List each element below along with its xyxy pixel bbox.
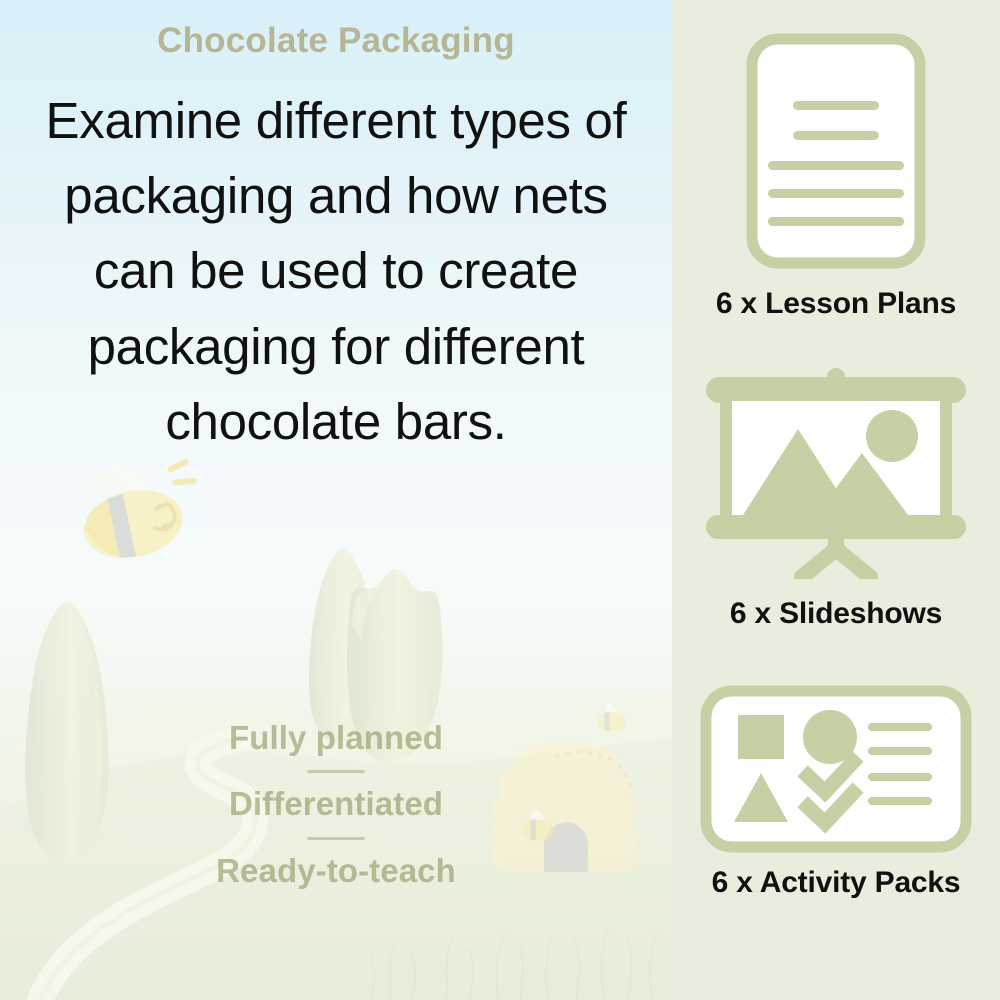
activity-card-icon bbox=[700, 685, 972, 853]
feature-lesson-plans: 6 x Lesson Plans bbox=[672, 33, 1000, 321]
tagline-differentiated: Differentiated bbox=[229, 784, 443, 824]
resource-preview-card: Chocolate Packaging Examine different ty… bbox=[0, 0, 1000, 1000]
left-content: Chocolate Packaging Examine different ty… bbox=[0, 0, 672, 1000]
tagline-ready-to-teach: Ready-to-teach bbox=[216, 851, 456, 891]
page-title: Chocolate Packaging bbox=[157, 22, 515, 61]
projector-icon bbox=[702, 367, 970, 579]
tagline-group: Fully planned Differentiated Ready-to-te… bbox=[0, 718, 672, 891]
document-icon bbox=[746, 33, 926, 269]
feature-label-slideshows: 6 x Slideshows bbox=[730, 597, 942, 631]
tagline-fully-planned: Fully planned bbox=[229, 718, 443, 758]
feature-activity-packs: 6 x Activity Packs bbox=[672, 685, 1000, 900]
features-panel: 6 x Lesson Plans bbox=[672, 0, 1000, 1000]
description-text: Examine different types of packaging and… bbox=[31, 83, 641, 460]
feature-label-activity-packs: 6 x Activity Packs bbox=[712, 866, 961, 900]
feature-label-lesson-plans: 6 x Lesson Plans bbox=[716, 287, 956, 321]
tagline-divider bbox=[307, 770, 365, 773]
tagline-divider bbox=[307, 837, 365, 840]
left-panel: Chocolate Packaging Examine different ty… bbox=[0, 0, 672, 1000]
feature-slideshows: 6 x Slideshows bbox=[672, 367, 1000, 631]
